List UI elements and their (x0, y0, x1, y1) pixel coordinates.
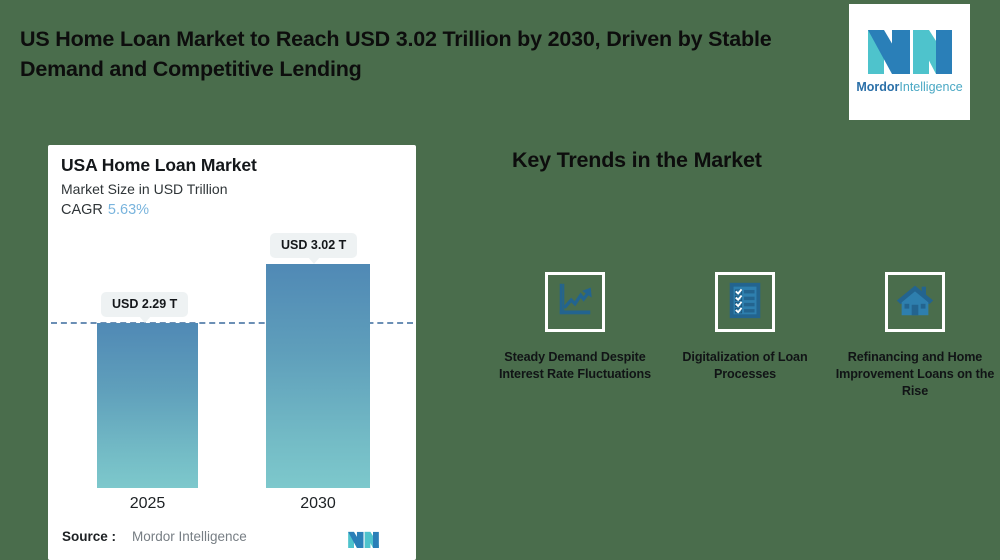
checklist-clipboard-icon (724, 279, 766, 326)
x-axis-label-2025: 2025 (97, 495, 198, 513)
trend-item-steady-demand: Steady Demand Despite Interest Rate Fluc… (490, 272, 660, 383)
brand-logo-card: MordorIntelligence (849, 4, 970, 120)
brand-word-intelligence: Intelligence (899, 80, 962, 94)
house-icon (894, 279, 936, 326)
growth-chart-icon (554, 279, 596, 326)
page-title: US Home Loan Market to Reach USD 3.02 Tr… (20, 24, 820, 84)
brand-word-mordor: Mordor (856, 80, 899, 94)
trend-caption: Refinancing and Home Improvement Loans o… (830, 349, 1000, 400)
source-row: Source : Mordor Intelligence (62, 529, 402, 551)
trend-item-refinancing: Refinancing and Home Improvement Loans o… (830, 272, 1000, 400)
key-trends-heading: Key Trends in the Market (512, 148, 762, 173)
mordor-m-mark-icon (347, 529, 380, 548)
value-badge-2030: USD 3.02 T (270, 233, 357, 258)
key-trends-row: Steady Demand Despite Interest Rate Fluc… (490, 272, 1000, 422)
bar-2025 (97, 323, 198, 488)
mordor-m-mark-icon (866, 22, 954, 74)
chart-card: USA Home Loan Market Market Size in USD … (48, 145, 416, 560)
trend-icon-box (715, 272, 775, 332)
brand-wordmark: MordorIntelligence (849, 80, 970, 94)
source-value: Mordor Intelligence (132, 529, 247, 544)
trend-caption: Digitalization of Loan Processes (660, 349, 830, 383)
source-label: Source : (62, 529, 116, 544)
value-badge-2025: USD 2.29 T (101, 292, 188, 317)
trend-icon-box (885, 272, 945, 332)
trend-icon-box (545, 272, 605, 332)
bar-2030 (266, 264, 370, 488)
trend-caption: Steady Demand Despite Interest Rate Fluc… (490, 349, 660, 383)
bar-chart-plot-area: USD 2.29 T USD 3.02 T 2025 2030 (48, 145, 416, 560)
trend-item-digitalization: Digitalization of Loan Processes (660, 272, 830, 383)
x-axis-label-2030: 2030 (266, 495, 370, 513)
